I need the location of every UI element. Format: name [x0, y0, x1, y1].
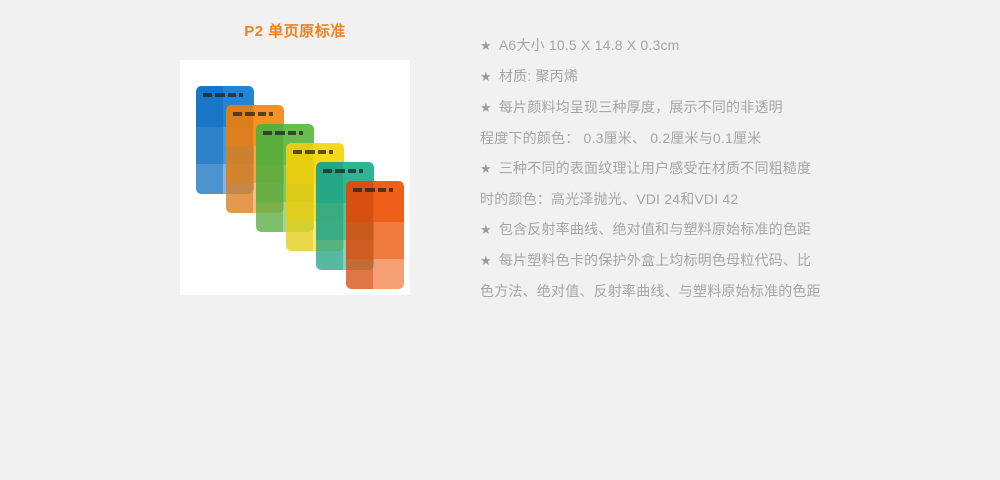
surface-texture-strip [256, 124, 283, 232]
star-bullet-icon: ★ [480, 161, 492, 176]
swatch-code-marking [233, 112, 273, 116]
surface-texture-strip [316, 162, 343, 270]
spec-line-text: 时的颜色：高光泽抛光、VDI 24和VDI 42 [480, 191, 738, 207]
spec-line: ★每片塑料色卡的保护外盒上均标明色母粒代码、比 [480, 245, 900, 276]
spec-line: ★材质: 聚丙烯 [480, 61, 900, 92]
swatch-code-marking [323, 169, 363, 173]
star-bullet-icon: ★ [480, 253, 492, 268]
swatch-code-marking [353, 188, 393, 192]
spec-line-text: 程度下的颜色： 0.3厘米、 0.2厘米与0.1厘米 [480, 130, 761, 146]
spec-line: ★A6大小 10.5 X 14.8 X 0.3cm [480, 30, 900, 61]
swatch-code-marking [263, 131, 303, 135]
star-bullet-icon: ★ [480, 100, 492, 115]
spec-line: 程度下的颜色： 0.3厘米、 0.2厘米与0.1厘米 [480, 123, 900, 153]
spec-line-text: 材质: 聚丙烯 [499, 68, 578, 84]
spec-line-text: A6大小 10.5 X 14.8 X 0.3cm [499, 37, 680, 53]
spec-line: 色方法、绝对值、反射率曲线、与塑料原始标准的色距 [480, 276, 900, 306]
red-card [346, 181, 404, 289]
spec-line-text: 每片颜料均呈现三种厚度，展示不同的非透明 [499, 99, 783, 115]
swatch-code-marking [203, 93, 243, 97]
spec-line: ★三种不同的表面纹理让用户感受在材质不同粗糙度 [480, 153, 900, 184]
spec-line-text: 三种不同的表面纹理让用户感受在材质不同粗糙度 [499, 160, 811, 176]
swatch-code-marking [293, 150, 333, 154]
product-image [180, 60, 410, 295]
spec-line-text: 每片塑料色卡的保护外盒上均标明色母粒代码、比 [499, 252, 811, 268]
product-panel: P2 单页原标准 [180, 22, 410, 42]
spec-line: ★每片颜料均呈现三种厚度，展示不同的非透明 [480, 92, 900, 123]
spec-line: ★包含反射率曲线、绝对值和与塑料原始标准的色距 [480, 214, 900, 245]
surface-texture-strip [346, 181, 373, 289]
specification-list: ★A6大小 10.5 X 14.8 X 0.3cm★材质: 聚丙烯★每片颜料均呈… [480, 30, 900, 306]
spec-line-text: 包含反射率曲线、绝对值和与塑料原始标准的色距 [499, 221, 811, 237]
spec-line: 时的颜色：高光泽抛光、VDI 24和VDI 42 [480, 184, 900, 214]
star-bullet-icon: ★ [480, 69, 492, 84]
surface-texture-strip [286, 143, 313, 251]
star-bullet-icon: ★ [480, 38, 492, 53]
card-body [346, 181, 404, 289]
star-bullet-icon: ★ [480, 222, 492, 237]
surface-texture-strip [226, 105, 253, 213]
page-title: P2 单页原标准 [180, 22, 410, 42]
surface-texture-strip [196, 86, 223, 194]
spec-line-text: 色方法、绝对值、反射率曲线、与塑料原始标准的色距 [480, 283, 821, 299]
color-card-stack [180, 60, 410, 295]
